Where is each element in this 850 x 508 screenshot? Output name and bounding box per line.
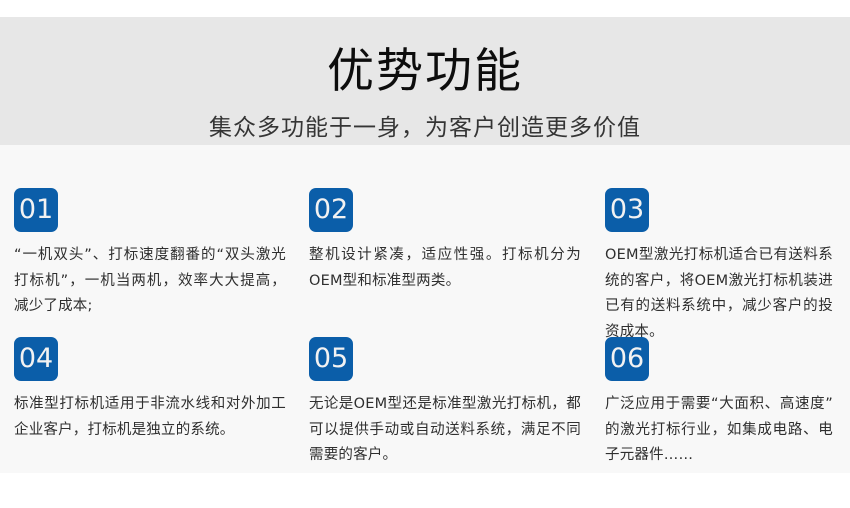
feature-number-badge: 02 <box>309 188 353 232</box>
page-title: 优势功能 <box>0 45 850 99</box>
feature-number-badge: 06 <box>605 337 649 381</box>
feature-description: 广泛应用于需要“大面积、高速度”的激光打标行业，如集成电路、电子元器件…… <box>605 392 833 469</box>
feature-number-badge: 01 <box>14 188 58 232</box>
feature-card-06: 06 广泛应用于需要“大面积、高速度”的激光打标行业，如集成电路、电子元器件…… <box>605 337 845 469</box>
features-section: 01 “一机双头”、打标速度翻番的“双头激光打标机”，一机当两机，效率大大提高，… <box>0 145 850 473</box>
feature-number-badge: 03 <box>605 188 649 232</box>
feature-description: 无论是OEM型还是标准型激光打标机，都可以提供手动或自动送料系统，满足不同需要的… <box>309 392 581 469</box>
header-band: 优势功能 集众多功能于一身，为客户创造更多价值 <box>0 17 850 145</box>
feature-description: 标准型打标机适用于非流水线和对外加工企业客户，打标机是独立的系统。 <box>14 392 286 443</box>
feature-number-badge: 04 <box>14 337 58 381</box>
feature-grid: 01 “一机双头”、打标速度翻番的“双头激光打标机”，一机当两机，效率大大提高，… <box>0 145 850 473</box>
page-subtitle: 集众多功能于一身，为客户创造更多价值 <box>0 112 850 144</box>
feature-card-04: 04 标准型打标机适用于非流水线和对外加工企业客户，打标机是独立的系统。 <box>14 337 296 443</box>
feature-card-01: 01 “一机双头”、打标速度翻番的“双头激光打标机”，一机当两机，效率大大提高，… <box>14 188 296 320</box>
feature-card-05: 05 无论是OEM型还是标准型激光打标机，都可以提供手动或自动送料系统，满足不同… <box>309 337 591 469</box>
feature-description: 整机设计紧凑，适应性强。打标机分为OEM型和标准型两类。 <box>309 243 581 294</box>
advantages-page: 优势功能 集众多功能于一身，为客户创造更多价值 01 “一机双头”、打标速度翻番… <box>0 0 850 508</box>
feature-number-badge: 05 <box>309 337 353 381</box>
feature-description: “一机双头”、打标速度翻番的“双头激光打标机”，一机当两机，效率大大提高，减少了… <box>14 243 286 320</box>
feature-description: OEM型激光打标机适合已有送料系统的客户，将OEM激光打标机装进已有的送料系统中… <box>605 243 833 345</box>
feature-card-03: 03 OEM型激光打标机适合已有送料系统的客户，将OEM激光打标机装进已有的送料… <box>605 188 845 345</box>
feature-card-02: 02 整机设计紧凑，适应性强。打标机分为OEM型和标准型两类。 <box>309 188 591 294</box>
